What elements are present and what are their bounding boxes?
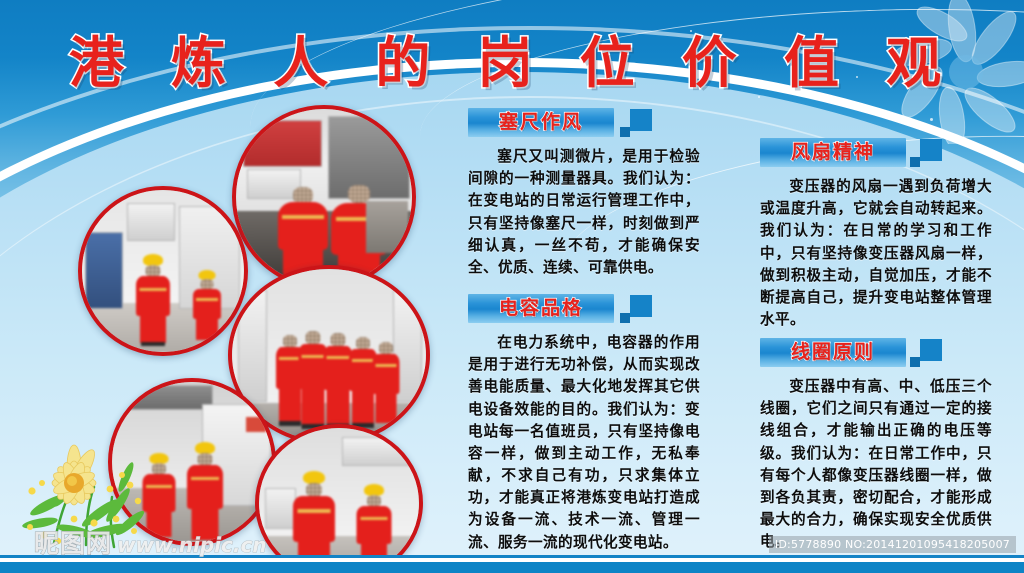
section-body-text: 变压器的风扇一遇到负荷增大或温度升高，它就会自动转起来。我们认为：在日常的学习和…: [760, 176, 992, 331]
watermark-url: www.nipic.cn: [117, 535, 267, 556]
section-feeler-gauge: 塞尺作风 塞尺又叫测微片，是用于检验间隙的一种测量器具。我们认为：在变电站的日常…: [468, 108, 700, 279]
watermark: 昵图网 www.nipic.cn: [34, 531, 267, 556]
decor-square-large: [920, 339, 942, 361]
decor-square-small: [910, 357, 920, 367]
watermark-site-name: 昵图网: [34, 531, 112, 556]
section-body-text: 塞尺又叫测微片，是用于检验间隙的一种测量器具。我们认为：在变电站的日常运行管理工…: [468, 146, 700, 279]
badge-label: 线圈原则: [760, 338, 906, 367]
section-body-text: 变压器中有高、中、低压三个线圈，它们之间只有通过一定的接线组合，才能输出正确的电…: [760, 376, 992, 553]
badge-label: 塞尺作风: [468, 108, 614, 137]
photo-left-upper: [78, 186, 248, 356]
photo-scene: [259, 428, 419, 573]
poster-canvas: 港 炼 人 的 岗 位 价 值 观: [0, 0, 1024, 573]
section-body-text: 在电力系统中，电容器的作用是用于进行无功补偿，从而实现改善电能质量、最大化地发挥…: [468, 332, 700, 554]
decor-square-large: [630, 109, 652, 131]
section-coil-principle: 线圈原则 变压器中有高、中、低压三个线圈，它们之间只有通过一定的接线组合，才能输…: [760, 338, 992, 553]
photo-top-center: [232, 105, 416, 289]
photo-scene: [236, 109, 412, 285]
decor-square-small: [620, 127, 630, 137]
section-badge: 风扇精神: [760, 138, 992, 167]
photo-scene: [82, 190, 244, 352]
poster-title-text: 港 炼 人 的 岗 位 价 值 观: [69, 18, 955, 98]
decor-square-large: [630, 295, 652, 317]
decor-square-small: [910, 157, 920, 167]
badge-label: 电容品格: [468, 294, 614, 323]
section-badge: 塞尺作风: [468, 108, 700, 137]
section-badge: 电容品格: [468, 294, 700, 323]
image-id-badge: ID:5778890 NO:20141201095418205007: [769, 536, 1016, 553]
section-fan-spirit: 风扇精神 变压器的风扇一遇到负荷增大或温度升高，它就会自动转起来。我们认为：在日…: [760, 138, 992, 331]
decor-square-large: [920, 139, 942, 161]
photo-bottom-right: [255, 424, 423, 573]
footer-stripe-bottom: [0, 562, 1024, 573]
poster-title: 港 炼 人 的 岗 位 价 值 观: [0, 18, 1024, 98]
decor-square-small: [620, 313, 630, 323]
section-badge: 线圈原则: [760, 338, 992, 367]
badge-label: 风扇精神: [760, 138, 906, 167]
sparkle-dot: [930, 118, 933, 121]
section-capacitor-character: 电容品格 在电力系统中，电容器的作用是用于进行无功补偿，从而实现改善电能质量、最…: [468, 294, 700, 554]
footer-stripes: [0, 555, 1024, 573]
